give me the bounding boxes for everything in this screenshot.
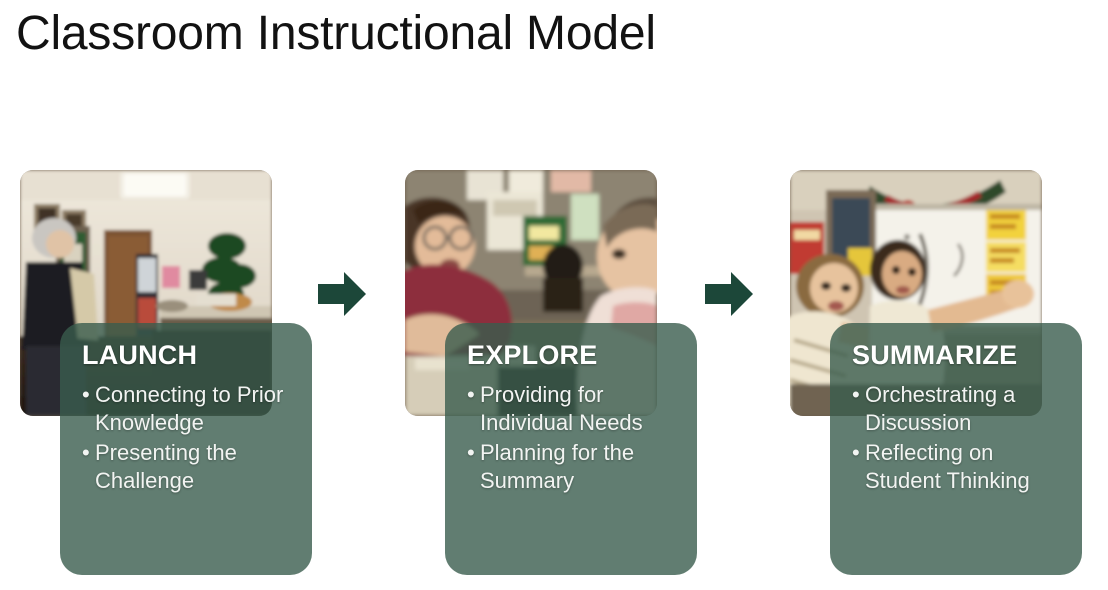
stage-explore-title: EXPLORE xyxy=(467,341,683,369)
list-item-label: Providing for Individual Needs xyxy=(480,382,643,435)
stage-launch-bullets: •Connecting to Prior Knowledge •Presenti… xyxy=(82,381,298,495)
list-item-label: Reflecting on Student Thinking xyxy=(865,440,1030,493)
list-item: •Orchestrating a Discussion xyxy=(852,381,1068,437)
list-item: •Planning for the Summary xyxy=(467,439,683,495)
arrow-launch-to-explore-icon xyxy=(317,271,367,317)
stage-summarize-bullets: •Orchestrating a Discussion •Reflecting … xyxy=(852,381,1068,495)
stage-summarize[interactable]: SUMMARIZE •Orchestrating a Discussion •R… xyxy=(770,0,1100,590)
bullet-icon: • xyxy=(82,439,90,467)
list-item-label: Connecting to Prior Knowledge xyxy=(95,382,283,435)
stage-summarize-title: SUMMARIZE xyxy=(852,341,1068,369)
stage-launch[interactable]: LAUNCH •Connecting to Prior Knowledge •P… xyxy=(0,0,330,590)
bullet-icon: • xyxy=(467,381,475,409)
list-item: •Connecting to Prior Knowledge xyxy=(82,381,298,437)
stage-launch-title: LAUNCH xyxy=(82,341,298,369)
stage-launch-card[interactable]: LAUNCH •Connecting to Prior Knowledge •P… xyxy=(60,323,312,575)
list-item-label: Orchestrating a Discussion xyxy=(865,382,1015,435)
list-item: •Presenting the Challenge xyxy=(82,439,298,495)
list-item: •Reflecting on Student Thinking xyxy=(852,439,1068,495)
bullet-icon: • xyxy=(852,439,860,467)
stage-explore[interactable]: EXPLORE •Providing for Individual Needs … xyxy=(385,0,715,590)
list-item-label: Presenting the Challenge xyxy=(95,440,237,493)
arrow-explore-to-summarize-icon xyxy=(704,271,754,317)
stage-explore-bullets: •Providing for Individual Needs •Plannin… xyxy=(467,381,683,495)
list-item: •Providing for Individual Needs xyxy=(467,381,683,437)
slide-canvas: Classroom Instructional Model xyxy=(0,0,1108,590)
bullet-icon: • xyxy=(82,381,90,409)
stage-summarize-card[interactable]: SUMMARIZE •Orchestrating a Discussion •R… xyxy=(830,323,1082,575)
bullet-icon: • xyxy=(467,439,475,467)
stage-explore-card[interactable]: EXPLORE •Providing for Individual Needs … xyxy=(445,323,697,575)
instructional-model-flow: LAUNCH •Connecting to Prior Knowledge •P… xyxy=(0,0,1108,590)
bullet-icon: • xyxy=(852,381,860,409)
list-item-label: Planning for the Summary xyxy=(480,440,634,493)
